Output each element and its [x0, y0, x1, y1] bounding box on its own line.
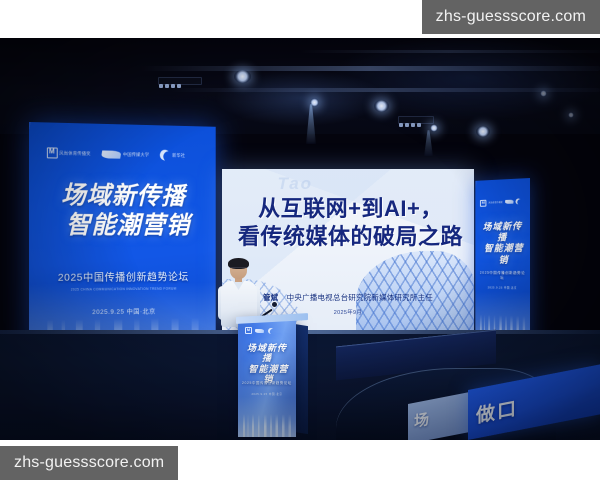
speaker-title: 中央广播电视总台研究院新媒体研究所主任 — [287, 293, 433, 302]
stage-light — [374, 100, 389, 112]
truss-beam — [140, 66, 600, 71]
podium-date: 2025.9.25 中国·北京 — [241, 392, 293, 396]
sponsor-logo-3 — [516, 196, 522, 208]
podium-title: 场域新传播 智能潮营销 — [242, 343, 292, 385]
light-bar — [158, 77, 202, 85]
sponsor-logo-3: 新华社 — [160, 147, 185, 163]
swoosh-icon — [505, 200, 514, 204]
light-bar — [398, 116, 434, 124]
stage-light — [568, 112, 574, 118]
stage-light — [234, 70, 251, 83]
crescent-icon — [515, 198, 523, 206]
logo-mark-icon: M — [480, 199, 486, 206]
logo-label: 中国传媒大学 — [123, 152, 149, 158]
title-line-1: 场域新传播 — [479, 221, 526, 244]
podium-skyline-graphic — [238, 397, 296, 437]
slide-watermark: Tao — [277, 174, 313, 194]
stage-light — [430, 124, 438, 132]
led-wall-right: M 风尚体育传播奖 场域新传播 智能潮营销 2025中国传播创新趋势论坛 202… — [475, 178, 530, 350]
truss-beam — [300, 50, 600, 53]
light-beam — [424, 130, 433, 156]
left-panel-title: 场域新传播 智能潮营销 — [43, 181, 204, 240]
podium-logo-row: M — [245, 326, 289, 335]
sponsor-logo-1: M 风尚体育传播奖 — [480, 197, 503, 209]
title-line-1: 场域新传播 — [43, 181, 204, 212]
crescent-icon — [267, 327, 275, 335]
swoosh-icon — [255, 329, 265, 333]
left-panel-subtitle: 2025中国传播创新趋势论坛 — [39, 269, 207, 285]
logo-label: 风尚体育传播奖 — [488, 201, 502, 204]
podium: M 场域新传播 智能潮营销 2025中国传播创新趋势论坛 2025.9.25 中… — [238, 319, 296, 437]
sponsor-logo-2 — [255, 327, 264, 334]
logo-label: 风尚体育传播奖 — [59, 150, 90, 157]
stage-light — [540, 90, 547, 97]
podium-subtitle: 2025中国传播创新趋势论坛 — [241, 380, 293, 385]
title-line-1: 场域新传播 — [242, 343, 292, 364]
screenshot-root: M 风尚体育传播奖 中国传媒大学 新华社 场域新传播 智能潮营销 2025中国传… — [0, 0, 600, 480]
right-panel-title: 场域新传播 智能潮营销 — [479, 221, 526, 266]
sponsor-logo-1: M 风尚体育传播奖 — [46, 145, 90, 162]
sponsor-logo-2 — [505, 196, 514, 208]
logo-label: 新华社 — [172, 153, 185, 159]
light-beam — [306, 104, 316, 144]
right-panel-date: 2025.9.25 中国·北京 — [478, 286, 527, 291]
watermark-top-right: zhs-guessscore.com — [422, 0, 600, 34]
stage-light — [476, 126, 490, 137]
foreground-white-wall-text: 场 — [414, 408, 430, 432]
swoosh-icon — [101, 150, 122, 158]
podium-side-face — [294, 324, 308, 434]
slide-title-line-1: 从互联网+到AI+， — [235, 195, 467, 223]
crescent-icon — [158, 148, 171, 162]
slide-title: 从互联网+到AI+， 看传统媒体的破局之路 — [235, 195, 467, 250]
title-line-2: 智能潮营销 — [52, 211, 203, 241]
sponsor-logo-2: 中国传媒大学 — [102, 146, 149, 163]
truss-beam — [170, 88, 600, 92]
right-panel-subtitle: 2025中国传播创新趋势论坛 — [478, 271, 527, 281]
title-line-2: 智能潮营销 — [482, 243, 526, 265]
foreground-blue-wall-text: 做口 — [476, 393, 518, 428]
watermark-bottom-left: zhs-guessscore.com — [0, 446, 178, 480]
stage-photograph: M 风尚体育传播奖 中国传媒大学 新华社 场域新传播 智能潮营销 2025中国传… — [0, 38, 600, 440]
left-panel-logo-row: M 风尚体育传播奖 中国传媒大学 新华社 — [46, 142, 203, 167]
sponsor-logo-3 — [268, 327, 274, 334]
person-glasses — [230, 267, 247, 272]
logo-mark-icon: M — [245, 327, 252, 334]
sponsor-logo-1: M — [245, 327, 252, 334]
slide-title-line-2: 看传统媒体的破局之路 — [235, 223, 467, 251]
ceiling-truss-area — [0, 38, 600, 134]
logo-mark-icon: M — [46, 148, 57, 159]
right-panel-logo-row: M 风尚体育传播奖 — [480, 194, 526, 211]
